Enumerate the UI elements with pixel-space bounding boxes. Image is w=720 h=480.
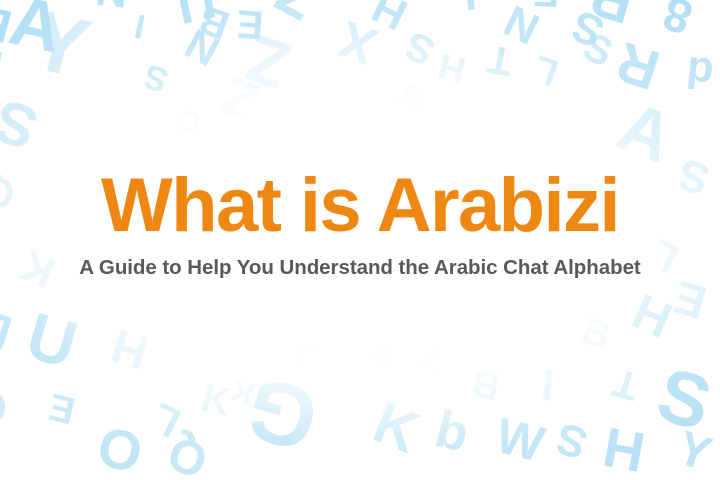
background-letter: Z bbox=[239, 24, 298, 99]
background-letter: S bbox=[551, 415, 593, 466]
background-letter: S bbox=[649, 356, 719, 443]
background-letter: L bbox=[145, 396, 186, 445]
page-title: What is Arabizi bbox=[0, 168, 720, 244]
background-letter: S bbox=[566, 2, 611, 54]
background-letter: B bbox=[0, 0, 16, 51]
background-letter: Q bbox=[163, 427, 213, 480]
background-letter: T bbox=[484, 38, 515, 82]
background-letter: A bbox=[609, 90, 682, 174]
background-letter: b bbox=[371, 339, 393, 372]
background-letter: S bbox=[140, 59, 171, 98]
background-letter: G bbox=[237, 362, 327, 465]
background-letter: B bbox=[469, 363, 504, 406]
background-letter: E bbox=[532, 0, 560, 12]
background-letter: U bbox=[20, 302, 84, 379]
background-letter: 7 bbox=[418, 340, 446, 376]
background-letter: A bbox=[393, 75, 427, 116]
background-letter: W bbox=[491, 410, 549, 470]
background-letter: S bbox=[400, 24, 441, 71]
background-letter: Y bbox=[671, 424, 716, 480]
background-letter: I bbox=[132, 8, 148, 43]
hero-text-block: What is Arabizi A Guide to Help You Unde… bbox=[0, 168, 720, 281]
background-letter: D bbox=[0, 300, 18, 356]
background-letter: U bbox=[172, 0, 220, 31]
background-letter: H bbox=[366, 0, 414, 37]
background-letter: E bbox=[669, 274, 711, 327]
background-letter: E bbox=[235, 3, 264, 45]
background-letter: Z bbox=[215, 67, 266, 129]
hero-banner: NUBBINSAYBEZHXSHZIER8NSSTLRdZACASSQKLEDU… bbox=[0, 0, 720, 480]
background-letter: Y bbox=[23, 0, 98, 92]
background-letter: O bbox=[0, 382, 9, 429]
background-letter: H bbox=[625, 286, 678, 346]
background-letter: C bbox=[177, 103, 204, 136]
background-letter: S bbox=[578, 26, 619, 73]
background-letter: K bbox=[366, 393, 427, 462]
background-letter: L bbox=[529, 48, 564, 92]
background-letter: d bbox=[684, 49, 715, 96]
background-letter: A bbox=[4, 0, 68, 63]
background-letter: X bbox=[333, 12, 383, 73]
background-letter: I bbox=[540, 361, 557, 406]
background-letter: B bbox=[578, 312, 615, 356]
background-letter: K bbox=[226, 373, 259, 411]
background-letter: N bbox=[179, 22, 226, 73]
background-letter: B bbox=[194, 0, 235, 46]
background-letter: S bbox=[0, 89, 44, 158]
background-letter: 8 bbox=[658, 0, 698, 41]
background-letter: B bbox=[0, 41, 6, 91]
background-letter: b bbox=[430, 403, 473, 461]
background-letter: H bbox=[107, 320, 154, 376]
background-letter: T bbox=[609, 361, 644, 406]
background-letter: R bbox=[585, 0, 639, 32]
background-letter: I bbox=[461, 0, 479, 18]
background-letter: Z bbox=[267, 0, 330, 30]
background-letter: N bbox=[498, 0, 546, 51]
background-letter: N bbox=[94, 0, 130, 14]
background-letter: H bbox=[435, 47, 469, 88]
background-letter: H bbox=[599, 419, 649, 480]
background-letter: R bbox=[610, 33, 666, 99]
background-letter: O bbox=[92, 418, 148, 480]
background-letter: J bbox=[292, 337, 320, 375]
page-subtitle: A Guide to Help You Understand the Arabi… bbox=[0, 256, 720, 281]
background-letter: E bbox=[45, 386, 79, 429]
background-letter: K bbox=[197, 377, 235, 423]
